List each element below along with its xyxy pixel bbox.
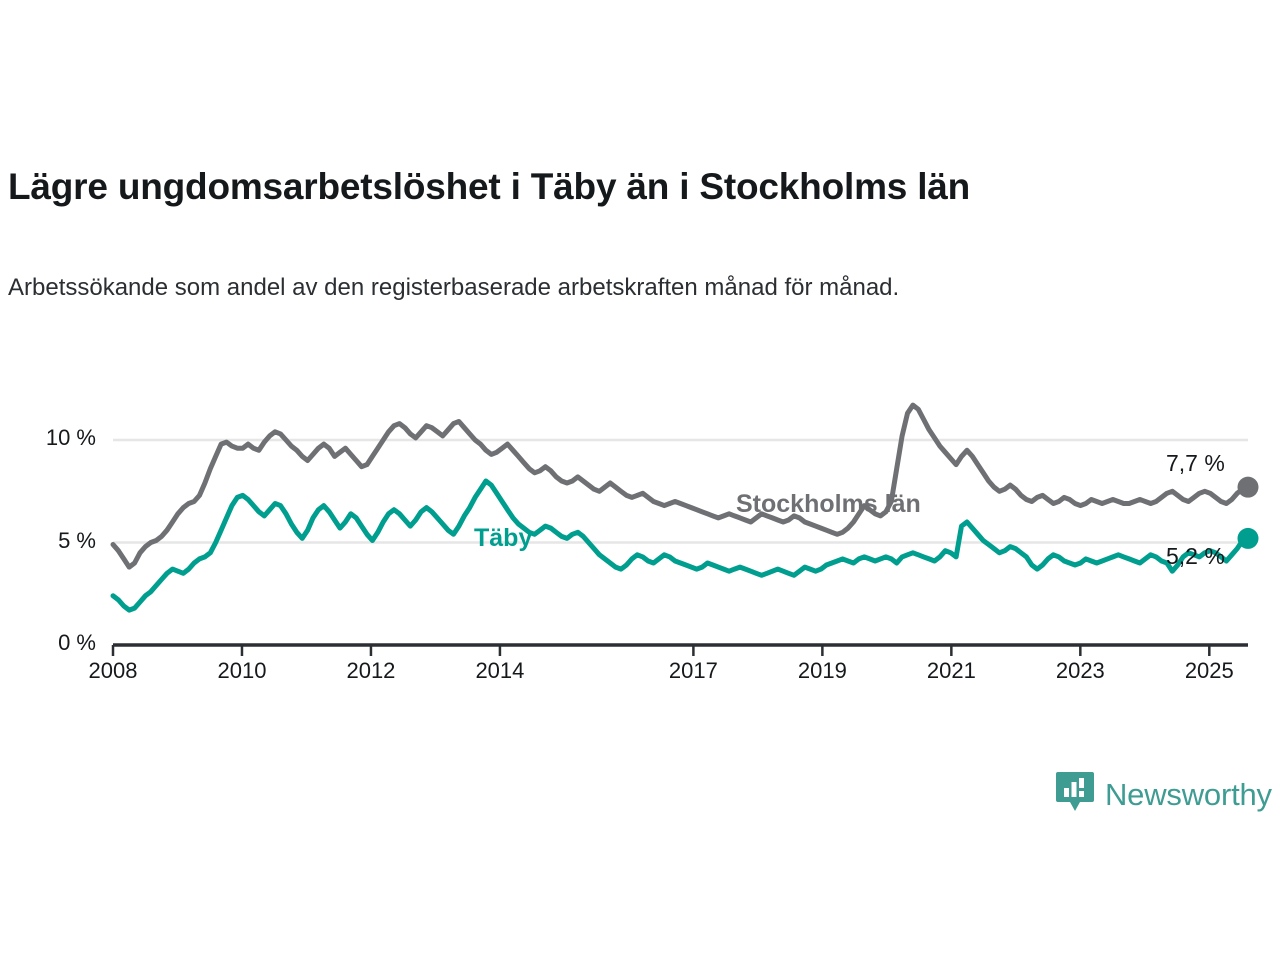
y-axis-label: 10 %	[8, 425, 96, 451]
y-axis-label: 5 %	[8, 528, 96, 554]
x-axis-label: 2014	[440, 658, 560, 684]
series-label-stockholm: Stockholms län	[736, 490, 921, 519]
bar-chart-speech-bubble-icon	[1055, 770, 1095, 819]
end-value-stockholm: 7,7 %	[1166, 450, 1225, 477]
x-axis-label: 2021	[891, 658, 1011, 684]
x-axis-label: 2019	[762, 658, 882, 684]
chart-page: Lägre ungdomsarbetslöshet i Täby än i St…	[0, 0, 1280, 960]
x-axis-label: 2010	[182, 658, 302, 684]
x-axis-label: 2017	[633, 658, 753, 684]
gridlines	[113, 440, 1248, 543]
x-axis-label: 2023	[1020, 658, 1140, 684]
series-lines	[113, 405, 1248, 610]
y-axis-label: 0 %	[8, 630, 96, 656]
series-label-taby: Täby	[474, 524, 532, 553]
x-axis-label: 2025	[1149, 658, 1269, 684]
x-axis-label: 2012	[311, 658, 431, 684]
newsworthy-logo: Newsworthy	[1055, 770, 1272, 819]
x-axis-label: 2008	[53, 658, 173, 684]
end-value-taby: 5,2 %	[1166, 543, 1225, 570]
newsworthy-wordmark: Newsworthy	[1105, 777, 1272, 813]
series-end-markers	[1238, 477, 1259, 549]
